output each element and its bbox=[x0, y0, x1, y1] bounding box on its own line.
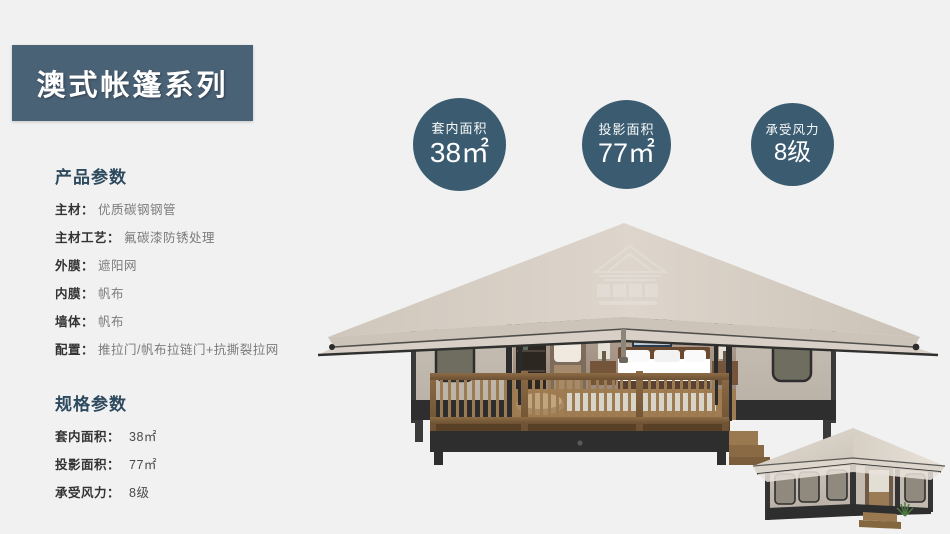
list-item: 投影面积： 77㎡ bbox=[55, 454, 355, 473]
spec-value: 8级 bbox=[129, 482, 149, 501]
stat-caption: 套内面积 bbox=[431, 122, 487, 135]
param-label: 内膜： bbox=[55, 283, 94, 302]
section-spacer bbox=[55, 367, 355, 390]
spec-value: 38㎡ bbox=[129, 426, 157, 445]
list-item: 配置： 推拉门/帆布拉链门+抗撕裂拉网 bbox=[55, 339, 355, 358]
tent-roof bbox=[318, 223, 938, 363]
spec-params-heading: 规格参数 bbox=[55, 390, 355, 415]
param-label: 主材： bbox=[55, 199, 94, 218]
stat-value: 8级 bbox=[774, 141, 811, 165]
param-value: 优质碳钢钢管 bbox=[98, 199, 176, 218]
stat-caption: 投影面积 bbox=[598, 123, 654, 136]
param-label: 墙体： bbox=[55, 311, 94, 330]
list-item: 内膜： 帆布 bbox=[55, 283, 355, 302]
list-item: 主材工艺： 氟碳漆防锈处理 bbox=[55, 227, 355, 246]
product-params-heading: 产品参数 bbox=[55, 163, 355, 188]
spec-params-list: 套内面积： 38㎡ 投影面积： 77㎡ 承受风力： 8级 bbox=[55, 426, 355, 501]
param-value: 氟碳漆防锈处理 bbox=[124, 227, 215, 246]
stat-badge-interior-area: 套内面积 38㎡ bbox=[413, 98, 506, 191]
spec-label: 承受风力： bbox=[55, 482, 120, 501]
list-item: 承受风力： 8级 bbox=[55, 482, 355, 501]
param-value: 帆布 bbox=[98, 311, 124, 330]
stat-badge-projected-area: 投影面积 77㎡ bbox=[582, 100, 671, 189]
param-value: 帆布 bbox=[98, 283, 124, 302]
list-item: 墙体： 帆布 bbox=[55, 311, 355, 330]
param-value: 遮阳网 bbox=[98, 255, 137, 274]
page-canvas: 澳式帐篷系列 产品参数 主材： 优质碳钢钢管 主材工艺： 氟碳漆防锈处理 外膜：… bbox=[0, 0, 950, 534]
spec-value: 77㎡ bbox=[129, 454, 157, 473]
param-label: 外膜： bbox=[55, 255, 94, 274]
list-item: 主材： 优质碳钢钢管 bbox=[55, 199, 355, 218]
list-item: 套内面积： 38㎡ bbox=[55, 426, 355, 445]
product-params-list: 主材： 优质碳钢钢管 主材工艺： 氟碳漆防锈处理 外膜： 遮阳网 内膜： 帆布 … bbox=[55, 199, 355, 358]
stat-value: 38㎡ bbox=[430, 139, 489, 167]
stat-value: 77㎡ bbox=[598, 140, 655, 167]
series-title-banner: 澳式帐篷系列 bbox=[12, 45, 253, 121]
param-value: 推拉门/帆布拉链门+抗撕裂拉网 bbox=[98, 339, 279, 358]
list-item: 外膜： 遮阳网 bbox=[55, 255, 355, 274]
spec-label: 套内面积： bbox=[55, 426, 120, 445]
param-label: 配置： bbox=[55, 339, 94, 358]
stat-caption: 承受风力 bbox=[765, 124, 819, 137]
series-title-text: 澳式帐篷系列 bbox=[36, 62, 228, 104]
tent-thumbnail-illustration bbox=[745, 418, 950, 534]
stat-badge-wind-resistance: 承受风力 8级 bbox=[751, 103, 834, 186]
spec-label: 投影面积： bbox=[55, 454, 120, 473]
info-panel: 产品参数 主材： 优质碳钢钢管 主材工艺： 氟碳漆防锈处理 外膜： 遮阳网 内膜… bbox=[55, 163, 355, 510]
param-label: 主材工艺： bbox=[55, 227, 120, 246]
